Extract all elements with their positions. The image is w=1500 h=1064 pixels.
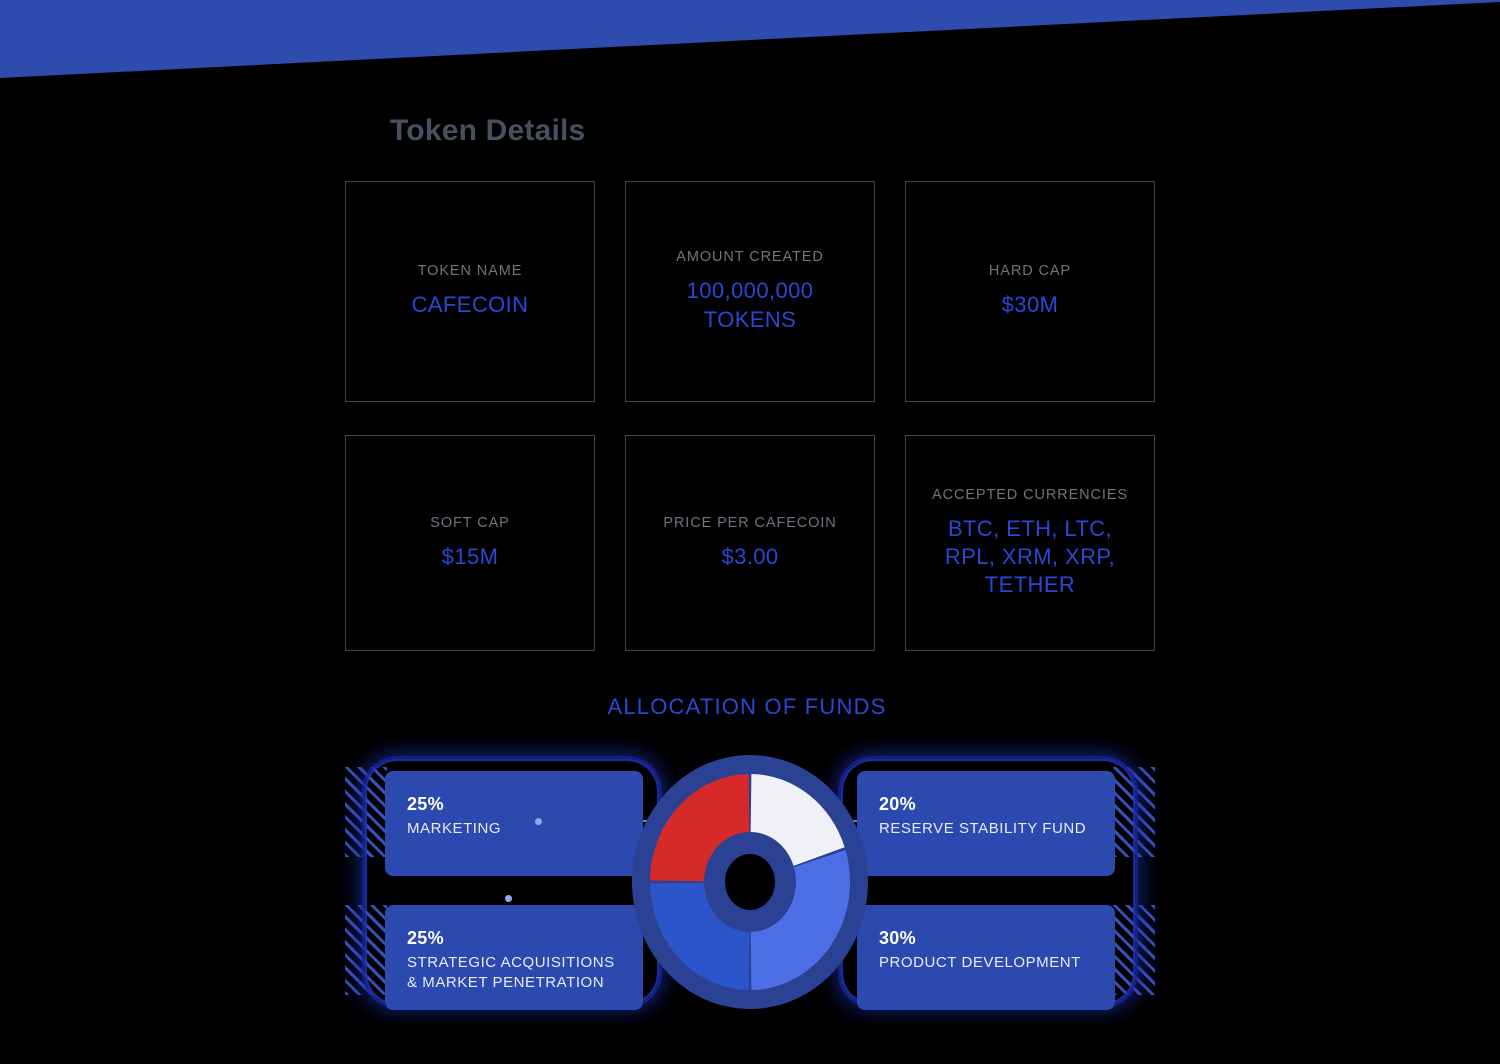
card-label: ACCEPTED CURRENCIES [932, 487, 1128, 503]
allocation-item-marketing[interactable]: 25% MARKETING [385, 771, 643, 876]
donut-hole [725, 854, 775, 910]
token-details-grid: TOKEN NAME CAFECOIN AMOUNT CREATED 100,0… [345, 181, 1165, 651]
allocation-heading: ALLOCATION OF FUNDS [0, 694, 1500, 720]
token-detail-card: PRICE PER CAFECOIN $3.00 [625, 435, 875, 651]
allocation-donut-chart [627, 755, 873, 1010]
card-label: PRICE PER CAFECOIN [663, 515, 836, 531]
allocation-item-reserve-stability-fund[interactable]: 20% RESERVE STABILITY FUND [857, 771, 1115, 876]
allocation-label-line2: & MARKET PENETRATION [407, 974, 604, 991]
page-title: Token Details [390, 114, 585, 148]
card-value: CAFECOIN [412, 291, 529, 319]
card-label: HARD CAP [989, 263, 1071, 279]
card-label: TOKEN NAME [418, 263, 523, 279]
leader-dot [505, 895, 512, 902]
allocation-label: RESERVE STABILITY FUND [879, 819, 1115, 839]
allocation-label: MARKETING [407, 819, 643, 839]
top-banner [0, 0, 1500, 90]
leader-dot [535, 818, 542, 825]
allocation-percent: 30% [879, 927, 1115, 950]
allocation-label: STRATEGIC ACQUISITIONS & MARKET PENETRAT… [407, 953, 643, 994]
card-value: $30M [1002, 291, 1059, 319]
allocation-diagram: 25% MARKETING 25% STRATEGIC ACQUISITIONS… [345, 755, 1155, 1010]
token-detail-card: HARD CAP $30M [905, 181, 1155, 402]
donut-svg [627, 755, 873, 1010]
token-detail-card: SOFT CAP $15M [345, 435, 595, 651]
allocation-percent: 20% [879, 793, 1115, 816]
allocation-label: PRODUCT DEVELOPMENT [879, 953, 1115, 973]
card-label: SOFT CAP [430, 515, 509, 531]
allocation-item-strategic-acquisitions[interactable]: 25% STRATEGIC ACQUISITIONS & MARKET PENE… [385, 905, 643, 1010]
card-label: AMOUNT CREATED [676, 249, 823, 265]
allocation-item-product-development[interactable]: 30% PRODUCT DEVELOPMENT [857, 905, 1115, 1010]
card-value: $3.00 [721, 543, 778, 571]
card-value: BTC, ETH, LTC, RPL, XRM, XRP, TETHER [930, 515, 1130, 599]
allocation-percent: 25% [407, 927, 643, 950]
card-value: $15M [442, 543, 499, 571]
token-detail-card: ACCEPTED CURRENCIES BTC, ETH, LTC, RPL, … [905, 435, 1155, 651]
allocation-label-line1: STRATEGIC ACQUISITIONS [407, 954, 615, 971]
allocation-heading-text: ALLOCATION OF FUNDS [607, 694, 886, 720]
card-value: 100,000,000 TOKENS [663, 277, 838, 333]
allocation-percent: 25% [407, 793, 643, 816]
token-detail-card: AMOUNT CREATED 100,000,000 TOKENS [625, 181, 875, 402]
token-detail-card: TOKEN NAME CAFECOIN [345, 181, 595, 402]
